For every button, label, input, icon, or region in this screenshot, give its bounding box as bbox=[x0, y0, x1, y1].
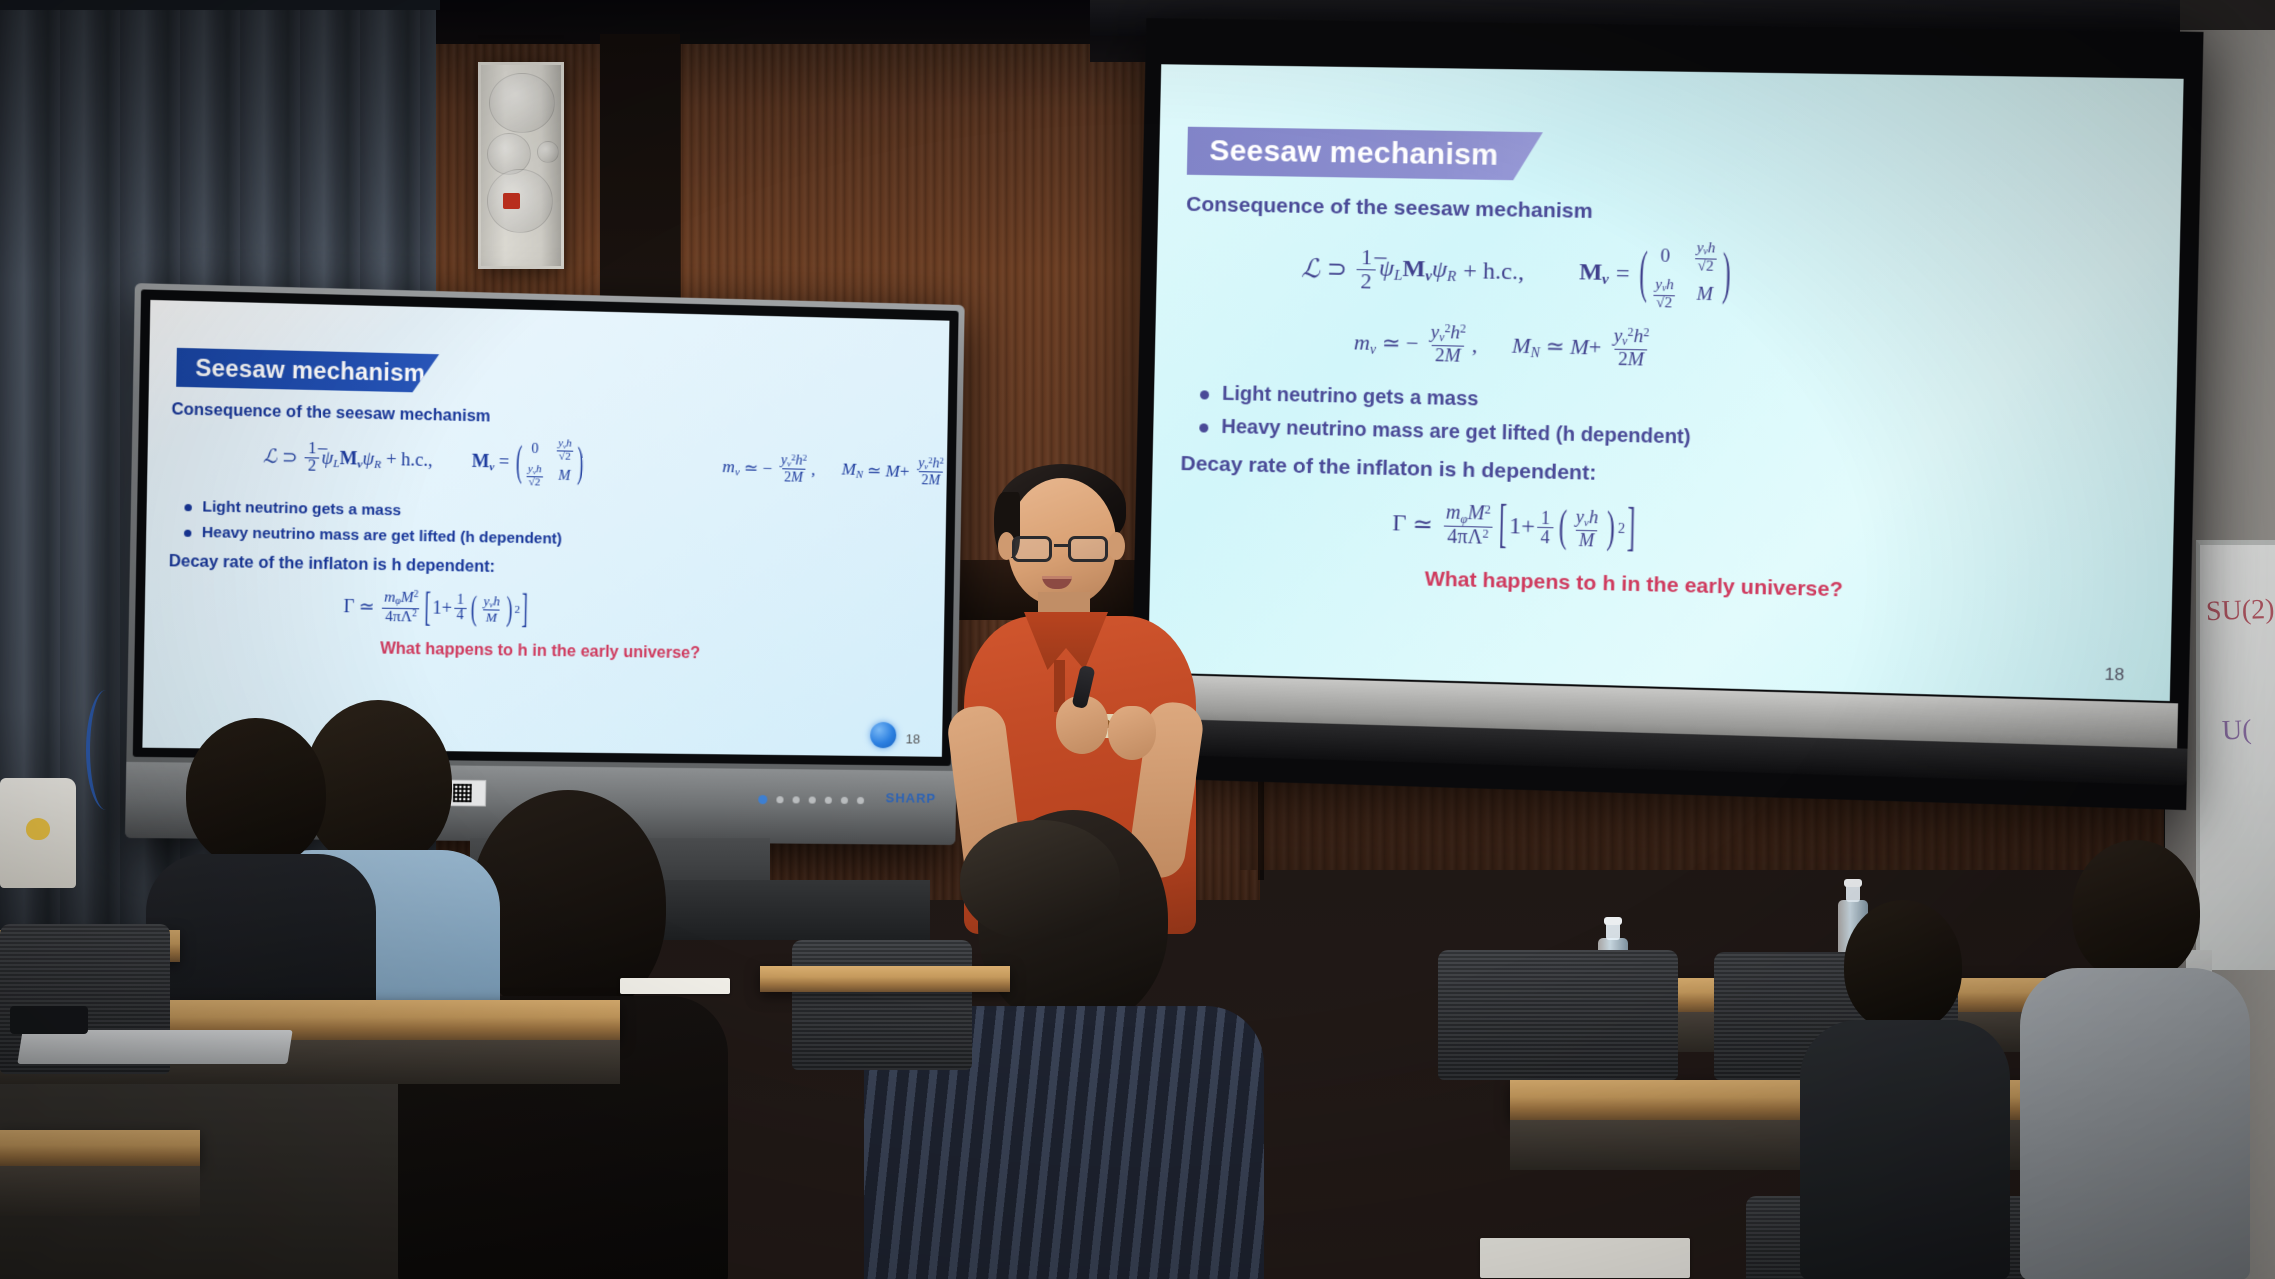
person-head bbox=[960, 820, 1120, 940]
papers-center bbox=[620, 978, 730, 994]
panel-bullet-2: Heavy neutrino mass are get lifted (h de… bbox=[169, 523, 947, 555]
audience-person-right-2 bbox=[1800, 900, 2010, 1279]
panel-button-icon[interactable] bbox=[776, 796, 783, 803]
panel-equation-decay-rate: Γ ≃ mφM2 4πΛ2 [ 1+ 14 ( yνh bbox=[343, 589, 529, 628]
lecture-room-photo: SU(2) U( Seesaw mechanism Consequence of… bbox=[0, 0, 2275, 1279]
speaker-cone-top bbox=[489, 73, 555, 133]
panel-equation-mass-relations: mν ≃ − yν2h2 2M , MN ≃ M+ yν2h2 2M bbox=[722, 451, 948, 490]
desk-center bbox=[760, 966, 1010, 992]
equation-mass-relations: mν ≃ − yν2h2 2M , MN ≃ M+ yν2h2 2M bbox=[1353, 322, 1655, 371]
speaker-tweeter bbox=[537, 141, 559, 163]
panel-decay-lead: Decay rate of the inflaton is h dependen… bbox=[169, 553, 948, 585]
slide-lead-text: Consequence of the seesaw mechanism bbox=[1186, 193, 2158, 234]
presenter-ear-right bbox=[1108, 532, 1125, 560]
panel-slide-title-banner: Seesaw mechanism bbox=[176, 348, 439, 393]
whiteboard-text-line1: SU(2) bbox=[2205, 594, 2275, 628]
panel-page-number: 18 bbox=[906, 731, 921, 746]
desk-left-near-side bbox=[0, 1166, 200, 1216]
bullet-dot-icon bbox=[1199, 424, 1208, 433]
speaker-brand-badge bbox=[503, 193, 520, 209]
panel-slide: Seesaw mechanism Consequence of the sees… bbox=[142, 300, 949, 757]
person-body bbox=[1800, 1020, 2010, 1279]
whiteboard-text-line2: U( bbox=[2221, 714, 2252, 747]
slide-bullet-2-text: Heavy neutrino mass are get lifted (h de… bbox=[1221, 416, 1691, 450]
duck-print-icon bbox=[26, 818, 50, 840]
chair-right-1 bbox=[1438, 950, 1678, 1080]
person-head bbox=[186, 718, 326, 868]
slide-title-text: Seesaw mechanism bbox=[1209, 134, 1499, 173]
power-button-icon[interactable] bbox=[758, 795, 767, 804]
equation-lagrangian: ℒ ⊃ 12 ̅ψL Mν ψR + h.c., Mν = ( 0 bbox=[1300, 233, 1734, 313]
bullet-dot-icon bbox=[1200, 391, 1209, 400]
slide-question-text: What happens to h in the early universe? bbox=[1178, 561, 2097, 609]
person-head bbox=[1844, 900, 1962, 1032]
audience-person-left-dark bbox=[146, 718, 376, 1018]
eyeglasses-bridge bbox=[1054, 544, 1068, 547]
panel-button-icon[interactable] bbox=[841, 797, 848, 804]
panel-bullet-2-text: Heavy neutrino mass are get lifted (h de… bbox=[202, 524, 562, 548]
slide-page-number: 18 bbox=[2104, 664, 2124, 685]
curtain-rail bbox=[0, 0, 440, 10]
laptop-left[interactable] bbox=[17, 1030, 292, 1064]
chair-center bbox=[792, 940, 972, 1070]
desk-left-near bbox=[0, 1130, 200, 1166]
panel-question-text: What happens to h in the early universe? bbox=[167, 637, 906, 666]
panel-button-icon[interactable] bbox=[825, 797, 832, 804]
panel-slide-title-text: Seesaw mechanism bbox=[195, 354, 425, 387]
bullet-dot-icon bbox=[184, 504, 191, 511]
panel-bullet-1-text: Light neutrino gets a mass bbox=[202, 498, 401, 519]
person-body bbox=[2020, 968, 2250, 1279]
panel-button-icon[interactable] bbox=[793, 796, 800, 803]
eyeglasses-left-lens bbox=[1012, 536, 1052, 562]
panel-button-icon[interactable] bbox=[809, 797, 816, 804]
slide-bullet-list: Light neutrino gets a mass Heavy neutrin… bbox=[1181, 382, 2153, 460]
smartphone-on-desk[interactable] bbox=[10, 1006, 88, 1034]
bullet-dot-icon bbox=[184, 530, 191, 537]
panel-button-icon[interactable] bbox=[857, 797, 864, 804]
audience-person-right-1 bbox=[2020, 840, 2250, 1279]
equation-decay-rate: Γ ≃ mφM2 4πΛ2 [ 1+ 14 ( yνh M bbox=[1392, 502, 1638, 553]
right-wall-top-trim bbox=[2165, 0, 2275, 30]
speaker-cone-bottom bbox=[487, 169, 553, 233]
wall-speaker bbox=[478, 62, 564, 269]
presenter-right-hand bbox=[1108, 706, 1156, 760]
blue-cable bbox=[86, 690, 126, 810]
panel-bezel: Seesaw mechanism Consequence of the sees… bbox=[133, 289, 959, 766]
slide-decay-lead: Decay rate of the inflaton is h dependen… bbox=[1180, 452, 2152, 499]
panel-slide-content: Consequence of the seesaw mechanism ℒ ⊃ … bbox=[167, 401, 949, 666]
projected-slide: Seesaw mechanism Consequence of the sees… bbox=[1148, 64, 2184, 701]
eyeglasses-right-lens bbox=[1068, 536, 1108, 562]
slide-title-banner: Seesaw mechanism bbox=[1187, 127, 1543, 181]
panel-brand-logo: SHARP bbox=[885, 790, 936, 806]
panel-bullet-list: Light neutrino gets a mass Heavy neutrin… bbox=[169, 497, 948, 554]
panel-equation-lagrangian: ℒ ⊃ 12 ̅ψL Mν ψR + h.c., Mν = ( bbox=[262, 432, 586, 490]
person-head bbox=[2072, 840, 2200, 982]
pointer-dot-cursor[interactable] bbox=[870, 722, 897, 748]
projection-screen: Seesaw mechanism Consequence of the sees… bbox=[1130, 18, 2204, 810]
panel-button-row[interactable] bbox=[758, 795, 864, 805]
papers-right bbox=[1480, 1238, 1690, 1278]
slide-content: Consequence of the seesaw mechanism ℒ ⊃ … bbox=[1178, 193, 2158, 611]
slide-bullet-1-text: Light neutrino gets a mass bbox=[1222, 383, 1479, 412]
